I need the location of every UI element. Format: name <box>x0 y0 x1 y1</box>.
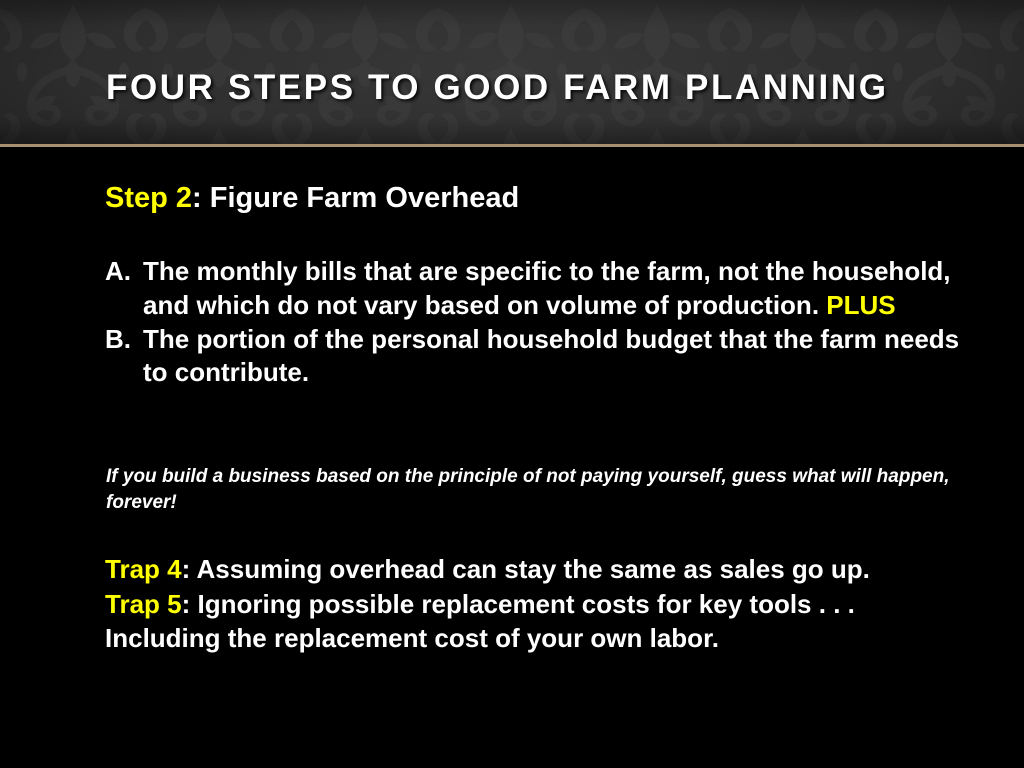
trap-text: Assuming overhead can stay the same as s… <box>197 554 870 584</box>
slide-header-banner: FOUR STEPS TO GOOD FARM PLANNING <box>0 0 1024 147</box>
traps-block: Trap 4: Assuming overhead can stay the s… <box>105 552 985 656</box>
trap-text: Ignoring possible replacement costs for … <box>197 589 854 619</box>
trap-line: Trap 4: Assuming overhead can stay the s… <box>105 552 985 587</box>
step-separator: : <box>192 182 210 214</box>
list-item-text: The monthly bills that are specific to t… <box>143 255 975 323</box>
trap-line: Trap 5: Ignoring possible replacement co… <box>105 587 985 622</box>
trap-text: Including the replacement cost of your o… <box>105 623 719 653</box>
list-item-body: The portion of the personal household bu… <box>143 324 959 388</box>
italic-note: If you build a business based on the pri… <box>106 464 958 516</box>
list-item-marker: A. <box>105 255 143 289</box>
list-item: A. The monthly bills that are specific t… <box>105 255 975 323</box>
trap-separator: : <box>182 554 197 584</box>
trap-line: Including the replacement cost of your o… <box>105 621 985 656</box>
slide-body: Step 2: Figure Farm Overhead A. The mont… <box>0 147 1024 768</box>
trap-separator: : <box>182 589 198 619</box>
step-heading: Step 2: Figure Farm Overhead <box>105 182 519 215</box>
lettered-list: A. The monthly bills that are specific t… <box>105 255 975 390</box>
step-label: Step 2 <box>105 182 192 214</box>
trap-label: Trap 4 <box>105 554 182 584</box>
list-item-emphasis: PLUS <box>826 290 895 320</box>
slide: FOUR STEPS TO GOOD FARM PLANNING Step 2:… <box>0 0 1024 768</box>
list-item: B. The portion of the personal household… <box>105 323 975 391</box>
step-title: Figure Farm Overhead <box>210 182 519 214</box>
page-title: FOUR STEPS TO GOOD FARM PLANNING <box>106 70 889 105</box>
list-item-text: The portion of the personal household bu… <box>143 323 975 391</box>
list-item-marker: B. <box>105 323 143 357</box>
trap-label: Trap 5 <box>105 589 182 619</box>
